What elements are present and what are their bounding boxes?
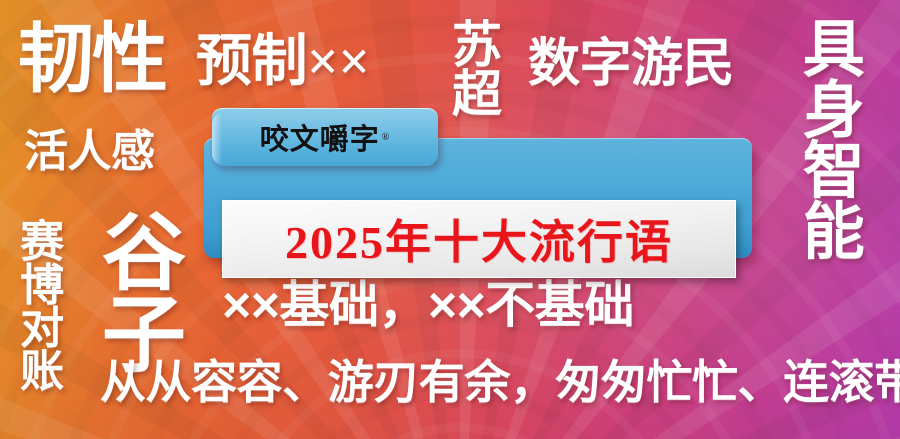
buzzword-congrong-youren: 从从容容、游刃有余，匆匆忙忙、连滚带爬	[100, 360, 900, 406]
buzzword-saibo-duizhang: 赛博对账	[16, 218, 59, 390]
magazine-logo-tab: 咬文嚼字 ®	[212, 108, 438, 166]
page-title: 2025年十大流行语	[223, 201, 735, 277]
poster-canvas: 韧性 预制×× 苏超 数字游民 具身智能 活人感 赛博对账 谷子 ××基础，××…	[0, 0, 900, 439]
buzzword-renxing: 韧性	[18, 22, 166, 98]
buzzword-jichu-bujichu: ××基础，××不基础	[222, 280, 634, 330]
buzzword-yuzhi: 预制××	[196, 34, 370, 90]
buzzword-guzi: 谷子	[96, 208, 178, 373]
buzzword-jushen-zhineng: 具身智能	[796, 16, 857, 259]
buzzword-suchao: 苏超	[448, 18, 497, 116]
buzzword-shuziyoumin: 数字游民	[528, 38, 734, 90]
plaque-inner-panel: 2025年十大流行语	[222, 200, 736, 278]
magazine-logo-text: 咬文嚼字	[260, 116, 380, 158]
title-plaque: 2025年十大流行语 咬文嚼字 ®	[204, 108, 752, 258]
buzzword-huorengan: 活人感	[24, 130, 155, 174]
registered-trademark-icon: ®	[382, 132, 391, 143]
magazine-logo: 咬文嚼字 ®	[212, 108, 438, 166]
